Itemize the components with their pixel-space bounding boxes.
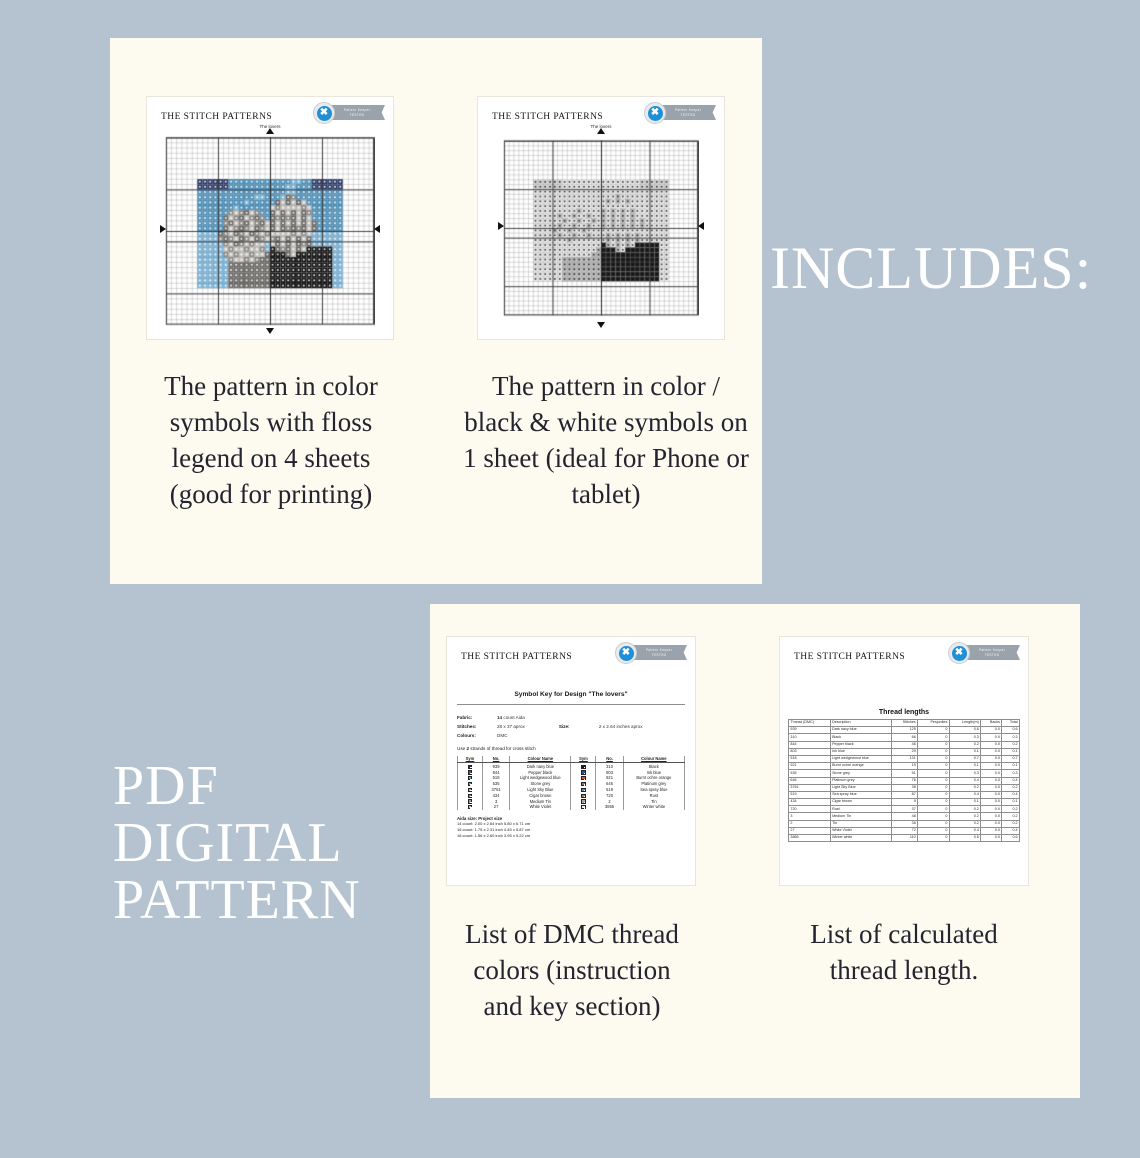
meta-row-fabric: Fabric: 14 count Aida <box>457 713 685 722</box>
thread-num: 0 <box>918 734 950 741</box>
thread-row: 720Rust3700.20.00.2 <box>789 806 1020 813</box>
badge-cross-icon: ✖ <box>651 108 659 118</box>
thread-code: 518 <box>789 755 831 762</box>
pdf-line-1: PDF <box>113 758 361 815</box>
thread-desc: Light wedgewood blue <box>830 755 892 762</box>
thread-num: 0.0 <box>981 748 1002 755</box>
thread-code: 921 <box>789 763 831 770</box>
badge-ribbon: Pattern Keeper TESTED <box>964 645 1020 660</box>
thread-lengths-body: Thread lengths Thread (DMC)DescriptionSt… <box>780 709 1028 842</box>
thread-code: 2 <box>789 820 831 827</box>
aida-lines: 14 count: 2.00 x 2.64 inch 5.80 x 6.71 c… <box>457 821 685 838</box>
tick-marker-top <box>266 128 274 134</box>
legend-colour-name: White Violet <box>510 804 571 810</box>
thread-num: 125 <box>892 727 918 734</box>
thread-code: 720 <box>789 806 831 813</box>
thread-num: 19 <box>892 763 918 770</box>
thread-num: 0.6 <box>949 835 980 842</box>
badge-line-2: TESTED <box>985 653 1000 658</box>
legend-col-name2: Colour Name <box>623 756 684 763</box>
thread-num: 72 <box>892 827 918 834</box>
colours-label: Colours: <box>457 731 497 740</box>
thread-num: 0 <box>918 755 950 762</box>
thread-num: 0.0 <box>981 791 1002 798</box>
pattern-keeper-badge: Pattern Keeper TESTED ✖ <box>644 102 716 124</box>
thread-num: 0.0 <box>981 734 1002 741</box>
thread-desc: Medium Tin <box>830 813 892 820</box>
thread-num: 36 <box>892 820 918 827</box>
thread-row: 519Sea spray blue8700.40.00.4 <box>789 791 1020 798</box>
badge-seal-icon: ✖ <box>948 642 970 664</box>
badge-seal-icon: ✖ <box>644 102 666 124</box>
thread-num: 0.2 <box>949 820 980 827</box>
thread-num: 0.1 <box>949 799 980 806</box>
thread-num: 0 <box>918 827 950 834</box>
thread-num: 46 <box>892 741 918 748</box>
legend-col-no: No. <box>482 756 509 763</box>
thread-num: 0.0 <box>981 784 1002 791</box>
thread-num: 0.6 <box>949 727 980 734</box>
size-label: Size: <box>559 722 599 731</box>
thread-col-4: Length(m) <box>949 720 980 727</box>
thread-desc: Sea spray blue <box>830 791 892 798</box>
thread-num: 0.4 <box>1002 827 1020 834</box>
poster-canvas: THE STITCH PATTERNS Pattern Keeper TESTE… <box>0 0 1140 1158</box>
thread-num: 0.0 <box>981 827 1002 834</box>
sheet-brand-title: THE STITCH PATTERNS <box>794 652 905 662</box>
badge-ribbon: Pattern Keeper TESTED <box>631 645 687 660</box>
caption-bw-symbols: The pattern in color / black & white sym… <box>462 368 750 512</box>
thread-num: 0.0 <box>981 770 1002 777</box>
aida-size-block: Aida size: Project size 14 count: 2.00 x… <box>457 816 685 838</box>
thread-body: 939Dark navy blue12500.60.00.6310Black66… <box>789 727 1020 842</box>
thread-num: 37 <box>892 806 918 813</box>
legend-header-row: Sym No. Colour Name Sym No. Colour Name <box>458 756 685 763</box>
thread-code: 27 <box>789 827 831 834</box>
thread-num: 0.4 <box>949 777 980 784</box>
legend-col-sym2: Sym <box>571 756 596 763</box>
legend-col-no2: No. <box>596 756 623 763</box>
meta-row-stitches: Stitches: 28 x 37 aprox Size: 2 x 2.64 i… <box>457 722 685 731</box>
thread-num: 0.0 <box>981 806 1002 813</box>
tick-marker-bottom <box>597 322 605 328</box>
thread-num: 0.6 <box>1002 835 1020 842</box>
fabric-value: 14 count Aida <box>497 713 525 722</box>
floss-legend-table: Sym No. Colour Name Sym No. Colour Name … <box>457 756 685 810</box>
thread-desc: Burnt ochre orange <box>830 763 892 770</box>
thread-num: 0 <box>918 784 950 791</box>
pdf-line-3: PATTERN <box>113 872 361 929</box>
badge-line-2: TESTED <box>652 653 667 658</box>
meta-row-colours: Colours: DMC <box>457 731 685 740</box>
symbol-key-body: Symbol Key for Design "The lovers" Fabri… <box>447 671 695 838</box>
thread-row: 27White Violet7200.40.00.4 <box>789 827 1020 834</box>
legend-body: 939Dark navy blue310Black844Pepper black… <box>458 763 685 810</box>
thread-num: 0.2 <box>1002 784 1020 791</box>
preview-sheet-bw-chart[interactable]: THE STITCH PATTERNS Pattern Keeper TESTE… <box>477 96 725 340</box>
legend-dmc-number: 27 <box>482 804 509 810</box>
thread-row: 844Pepper black4600.20.00.2 <box>789 741 1020 748</box>
thread-num: 0 <box>918 835 950 842</box>
thread-desc: Stone grey <box>830 770 892 777</box>
thread-num: 0.4 <box>949 791 980 798</box>
sheet-brand-title: THE STITCH PATTERNS <box>492 112 603 122</box>
thread-desc: Black <box>830 734 892 741</box>
thread-num: 0 <box>918 813 950 820</box>
thread-num: 0.0 <box>981 820 1002 827</box>
thread-code: 939 <box>789 727 831 734</box>
thread-col-5: Backs <box>981 720 1002 727</box>
thread-code: 310 <box>789 734 831 741</box>
badge-seal-icon: ✖ <box>615 642 637 664</box>
thread-col-2: Stitches <box>892 720 918 727</box>
thread-num: 0.2 <box>949 813 980 820</box>
thread-row: 3761Light Sky Blue3800.20.00.2 <box>789 784 1020 791</box>
chart-color[interactable]: The lovers <box>165 133 375 329</box>
thread-num: 0.1 <box>1002 799 1020 806</box>
legend-symbol <box>571 804 596 810</box>
thread-num: 48 <box>892 813 918 820</box>
thread-lengths-table: Thread (DMC)DescriptionStitchesPesjunite… <box>788 719 1020 842</box>
colours-value: DMC <box>497 731 507 740</box>
thread-num: 0.4 <box>1002 777 1020 784</box>
thread-desc: Light Sky Blue <box>830 784 892 791</box>
thread-num: 0.0 <box>981 755 1002 762</box>
thread-col-0: Thread (DMC) <box>789 720 831 727</box>
thread-code: 535 <box>789 770 831 777</box>
thread-num: 0.0 <box>981 835 1002 842</box>
thread-num: 0.1 <box>1002 748 1020 755</box>
thread-num: 0.0 <box>981 727 1002 734</box>
legend-symbol <box>458 804 483 810</box>
thread-code: 3865 <box>789 835 831 842</box>
thread-num: 0.0 <box>981 799 1002 806</box>
badge-cross-icon: ✖ <box>320 108 328 118</box>
thread-num: 0 <box>918 741 950 748</box>
thread-num: 0.4 <box>1002 791 1020 798</box>
thread-num: 66 <box>892 734 918 741</box>
divider <box>457 704 685 705</box>
thread-num: 0.2 <box>949 784 980 791</box>
stitches-label: Stitches: <box>457 722 497 731</box>
thread-header-row: Thread (DMC)DescriptionStitchesPesjunite… <box>789 720 1020 727</box>
thread-num: 0 <box>918 770 950 777</box>
badge-ribbon: Pattern Keeper TESTED <box>329 105 385 120</box>
aida-line: 18 count: 1.56 x 2.60 inch 3.95 x 5.22 c… <box>457 833 685 839</box>
symbol-key-heading: Symbol Key for Design "The lovers" <box>457 691 685 698</box>
thread-num: 0.7 <box>1002 755 1020 762</box>
thread-num: 0.2 <box>1002 806 1020 813</box>
pattern-keeper-badge: Pattern Keeper TESTED ✖ <box>615 642 687 664</box>
legend-col-sym: Sym <box>458 756 483 763</box>
thread-num: 0 <box>918 763 950 770</box>
thread-num: 0 <box>918 727 950 734</box>
thread-num: 0.6 <box>1002 727 1020 734</box>
badge-cross-icon: ✖ <box>955 648 963 658</box>
thread-row: 646Platinum grey7600.40.00.4 <box>789 777 1020 784</box>
sheet-brand-title: THE STITCH PATTERNS <box>461 652 572 662</box>
tick-marker-right <box>698 222 704 230</box>
thread-num: 0.2 <box>1002 820 1020 827</box>
thread-desc: Tin <box>830 820 892 827</box>
tick-marker-right <box>374 225 380 233</box>
caption-color-symbols: The pattern in color symbols with floss … <box>138 368 404 512</box>
pattern-keeper-badge: Pattern Keeper TESTED ✖ <box>313 102 385 124</box>
thread-num: 38 <box>892 784 918 791</box>
fabric-label: Fabric: <box>457 713 497 722</box>
sheet-brand-title: THE STITCH PATTERNS <box>161 112 272 122</box>
tick-marker-bottom <box>266 328 274 334</box>
thread-code: 646 <box>789 777 831 784</box>
caption-thread-length: List of calculated thread length. <box>778 916 1030 988</box>
thread-num: 0.1 <box>1002 763 1020 770</box>
thread-num: 110 <box>892 835 918 842</box>
badge-line-2: TESTED <box>350 113 365 118</box>
caption-dmc-list: List of DMC thread colors (instruction a… <box>452 916 692 1024</box>
thread-num: 0.1 <box>949 748 980 755</box>
thread-num: 0.2 <box>1002 813 1020 820</box>
thread-code: 3761 <box>789 784 831 791</box>
thread-desc: Cigar brown <box>830 799 892 806</box>
legend-dmc-number: 3865 <box>596 804 623 810</box>
thread-code: 3 <box>789 813 831 820</box>
thread-code: 434 <box>789 799 831 806</box>
thread-num: 0.0 <box>981 763 1002 770</box>
sheet-header: THE STITCH PATTERNS Pattern Keeper TESTE… <box>447 637 695 671</box>
thread-num: 76 <box>892 777 918 784</box>
legend-row: 27White Violet3865Winter white <box>458 804 685 810</box>
thread-num: 0.0 <box>981 813 1002 820</box>
preview-sheet-symbol-key[interactable]: THE STITCH PATTERNS Pattern Keeper TESTE… <box>446 636 696 886</box>
pdf-digital-pattern-heading: PDF DIGITAL PATTERN <box>113 758 361 929</box>
thread-code: 803 <box>789 748 831 755</box>
thread-row: 921Burnt ochre orange1900.10.00.1 <box>789 763 1020 770</box>
thread-num: 0.1 <box>949 763 980 770</box>
thread-code: 844 <box>789 741 831 748</box>
pattern-keeper-badge: Pattern Keeper TESTED ✖ <box>948 642 1020 664</box>
includes-heading: INCLUDES: <box>770 238 1092 298</box>
thread-num: 0.2 <box>949 806 980 813</box>
thread-num: 87 <box>892 791 918 798</box>
thread-row: 3Medium Tin4800.20.00.2 <box>789 813 1020 820</box>
thread-num: 0.0 <box>981 741 1002 748</box>
thread-num: 0.3 <box>1002 734 1020 741</box>
thread-num: 0 <box>918 777 950 784</box>
thread-desc: Platinum grey <box>830 777 892 784</box>
sheet-header: THE STITCH PATTERNS Pattern Keeper TESTE… <box>780 637 1028 671</box>
thread-num: 0.0 <box>981 777 1002 784</box>
thread-num: 51 <box>892 770 918 777</box>
thread-col-1: Description <box>830 720 892 727</box>
badge-line-2: TESTED <box>681 113 696 118</box>
preview-sheet-thread-lengths[interactable]: THE STITCH PATTERNS Pattern Keeper TESTE… <box>779 636 1029 886</box>
badge-cross-icon: ✖ <box>622 648 630 658</box>
stitch-grid-color <box>165 133 375 329</box>
badge-seal-icon: ✖ <box>313 102 335 124</box>
strands-note: Use 2 strands of thread for cross stitch <box>457 746 685 751</box>
thread-desc: Pepper black <box>830 741 892 748</box>
aida-title: Aida size: Project size <box>457 816 502 821</box>
thread-col-3: Pesjunites <box>918 720 950 727</box>
tick-marker-top <box>597 128 605 134</box>
thread-code: 519 <box>789 791 831 798</box>
thread-row: 434Cigar brown900.10.00.1 <box>789 799 1020 806</box>
thread-num: 0.2 <box>1002 741 1020 748</box>
chart-bw[interactable]: The lovers <box>503 133 699 323</box>
thread-row: 310Black6600.30.00.3 <box>789 734 1020 741</box>
thread-row: 518Light wedgewood blue13100.70.00.7 <box>789 755 1020 762</box>
preview-sheet-color-chart[interactable]: THE STITCH PATTERNS Pattern Keeper TESTE… <box>146 96 394 340</box>
legend-colour-name: Winter white <box>623 804 684 810</box>
thread-num: 9 <box>892 799 918 806</box>
thread-num: 0.2 <box>949 741 980 748</box>
thread-row: 535Stone grey5100.30.00.3 <box>789 770 1020 777</box>
thread-row: 803Ink blue2900.10.00.1 <box>789 748 1020 755</box>
stitch-grid-bw <box>503 133 699 323</box>
thread-num: 0.3 <box>1002 770 1020 777</box>
thread-row: 3865Winter white11000.60.00.6 <box>789 835 1020 842</box>
thread-num: 0 <box>918 820 950 827</box>
thread-desc: Dark navy blue <box>830 727 892 734</box>
tick-marker-left <box>498 222 504 230</box>
size-value: 2 x 2.64 inches aprox <box>599 722 643 731</box>
badge-ribbon: Pattern Keeper TESTED <box>660 105 716 120</box>
thread-num: 0.4 <box>949 827 980 834</box>
thread-desc: Winter white <box>830 835 892 842</box>
thread-num: 0 <box>918 799 950 806</box>
stitches-value: 28 x 37 aprox <box>497 722 525 731</box>
thread-num: 0.3 <box>949 770 980 777</box>
thread-num: 131 <box>892 755 918 762</box>
thread-num: 0 <box>918 791 950 798</box>
thread-num: 0.7 <box>949 755 980 762</box>
thread-desc: Ink blue <box>830 748 892 755</box>
thread-row: 2Tin3600.20.00.2 <box>789 820 1020 827</box>
thread-desc: White Violet <box>830 827 892 834</box>
thread-num: 0.3 <box>949 734 980 741</box>
thread-row: 939Dark navy blue12500.60.00.6 <box>789 727 1020 734</box>
legend-col-name: Colour Name <box>510 756 571 763</box>
thread-num: 0 <box>918 748 950 755</box>
thread-lengths-heading: Thread lengths <box>788 709 1020 716</box>
pdf-line-2: DIGITAL <box>113 815 361 872</box>
tick-marker-left <box>160 225 166 233</box>
thread-num: 0 <box>918 806 950 813</box>
thread-desc: Rust <box>830 806 892 813</box>
thread-col-6: Total <box>1002 720 1020 727</box>
thread-num: 29 <box>892 748 918 755</box>
symbol-key-meta: Fabric: 14 count Aida Stitches: 28 x 37 … <box>457 713 685 740</box>
